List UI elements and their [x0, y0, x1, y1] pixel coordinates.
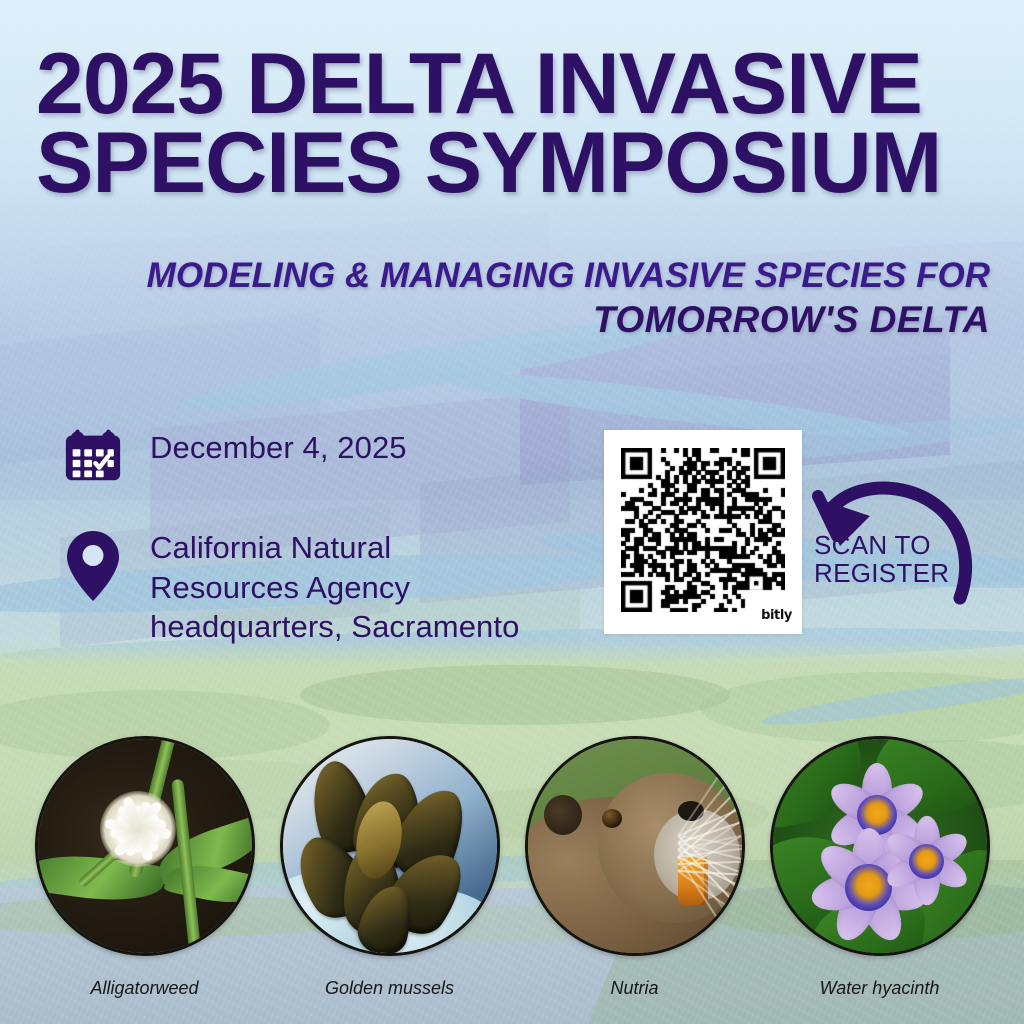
title-line-2: SPECIES SYMPOSIUM — [36, 123, 996, 204]
event-details: December 4, 2025 California Natural Reso… — [58, 424, 578, 647]
event-poster: 2025 DELTA INVASIVE SPECIES SYMPOSIUM MO… — [0, 0, 1024, 1024]
location-line-1: California Natural — [150, 528, 519, 568]
nutria-photo — [525, 736, 745, 956]
scan-to-register-text: SCAN TO REGISTER — [814, 532, 954, 588]
event-date: December 4, 2025 — [150, 424, 407, 468]
scan-line-1: SCAN TO — [814, 532, 954, 560]
subtitle-line-1: MODELING & MANAGING INVASIVE SPECIES FOR — [147, 256, 990, 295]
calendar-icon — [58, 424, 128, 486]
alligatorweed-photo — [35, 736, 255, 956]
species-item: Golden mussels — [282, 736, 497, 999]
location-line-3: headquarters, Sacramento — [150, 607, 519, 647]
golden-mussels-photo — [280, 736, 500, 956]
qr-brand-label: bitly — [761, 608, 792, 623]
species-gallery: Alligatorweed Golden mussels — [0, 736, 1024, 999]
location-line-2: Resources Agency — [150, 568, 519, 608]
species-caption: Water hyacinth — [820, 978, 940, 999]
species-item: Water hyacinth — [772, 736, 987, 999]
event-location-row: California Natural Resources Agency head… — [58, 528, 578, 647]
water-hyacinth-photo — [770, 736, 990, 956]
scan-line-2: REGISTER — [814, 560, 954, 588]
species-item: Nutria — [527, 736, 742, 999]
event-location: California Natural Resources Agency head… — [150, 528, 519, 647]
species-caption: Nutria — [610, 978, 658, 999]
poster-title: 2025 DELTA INVASIVE SPECIES SYMPOSIUM — [36, 44, 996, 204]
qr-code-card[interactable]: bitly — [604, 430, 802, 634]
title-line-1: 2025 DELTA INVASIVE — [36, 44, 996, 125]
species-caption: Golden mussels — [325, 978, 454, 999]
scan-to-register-callout: SCAN TO REGISTER — [804, 470, 984, 620]
poster-subtitle: MODELING & MANAGING INVASIVE SPECIES FOR… — [110, 256, 990, 341]
subtitle-line-2: TOMORROW'S DELTA — [110, 299, 990, 340]
species-caption: Alligatorweed — [90, 978, 198, 999]
species-item: Alligatorweed — [37, 736, 252, 999]
qr-code-image[interactable] — [621, 448, 785, 612]
map-pin-icon — [58, 528, 128, 604]
event-date-row: December 4, 2025 — [58, 424, 578, 486]
